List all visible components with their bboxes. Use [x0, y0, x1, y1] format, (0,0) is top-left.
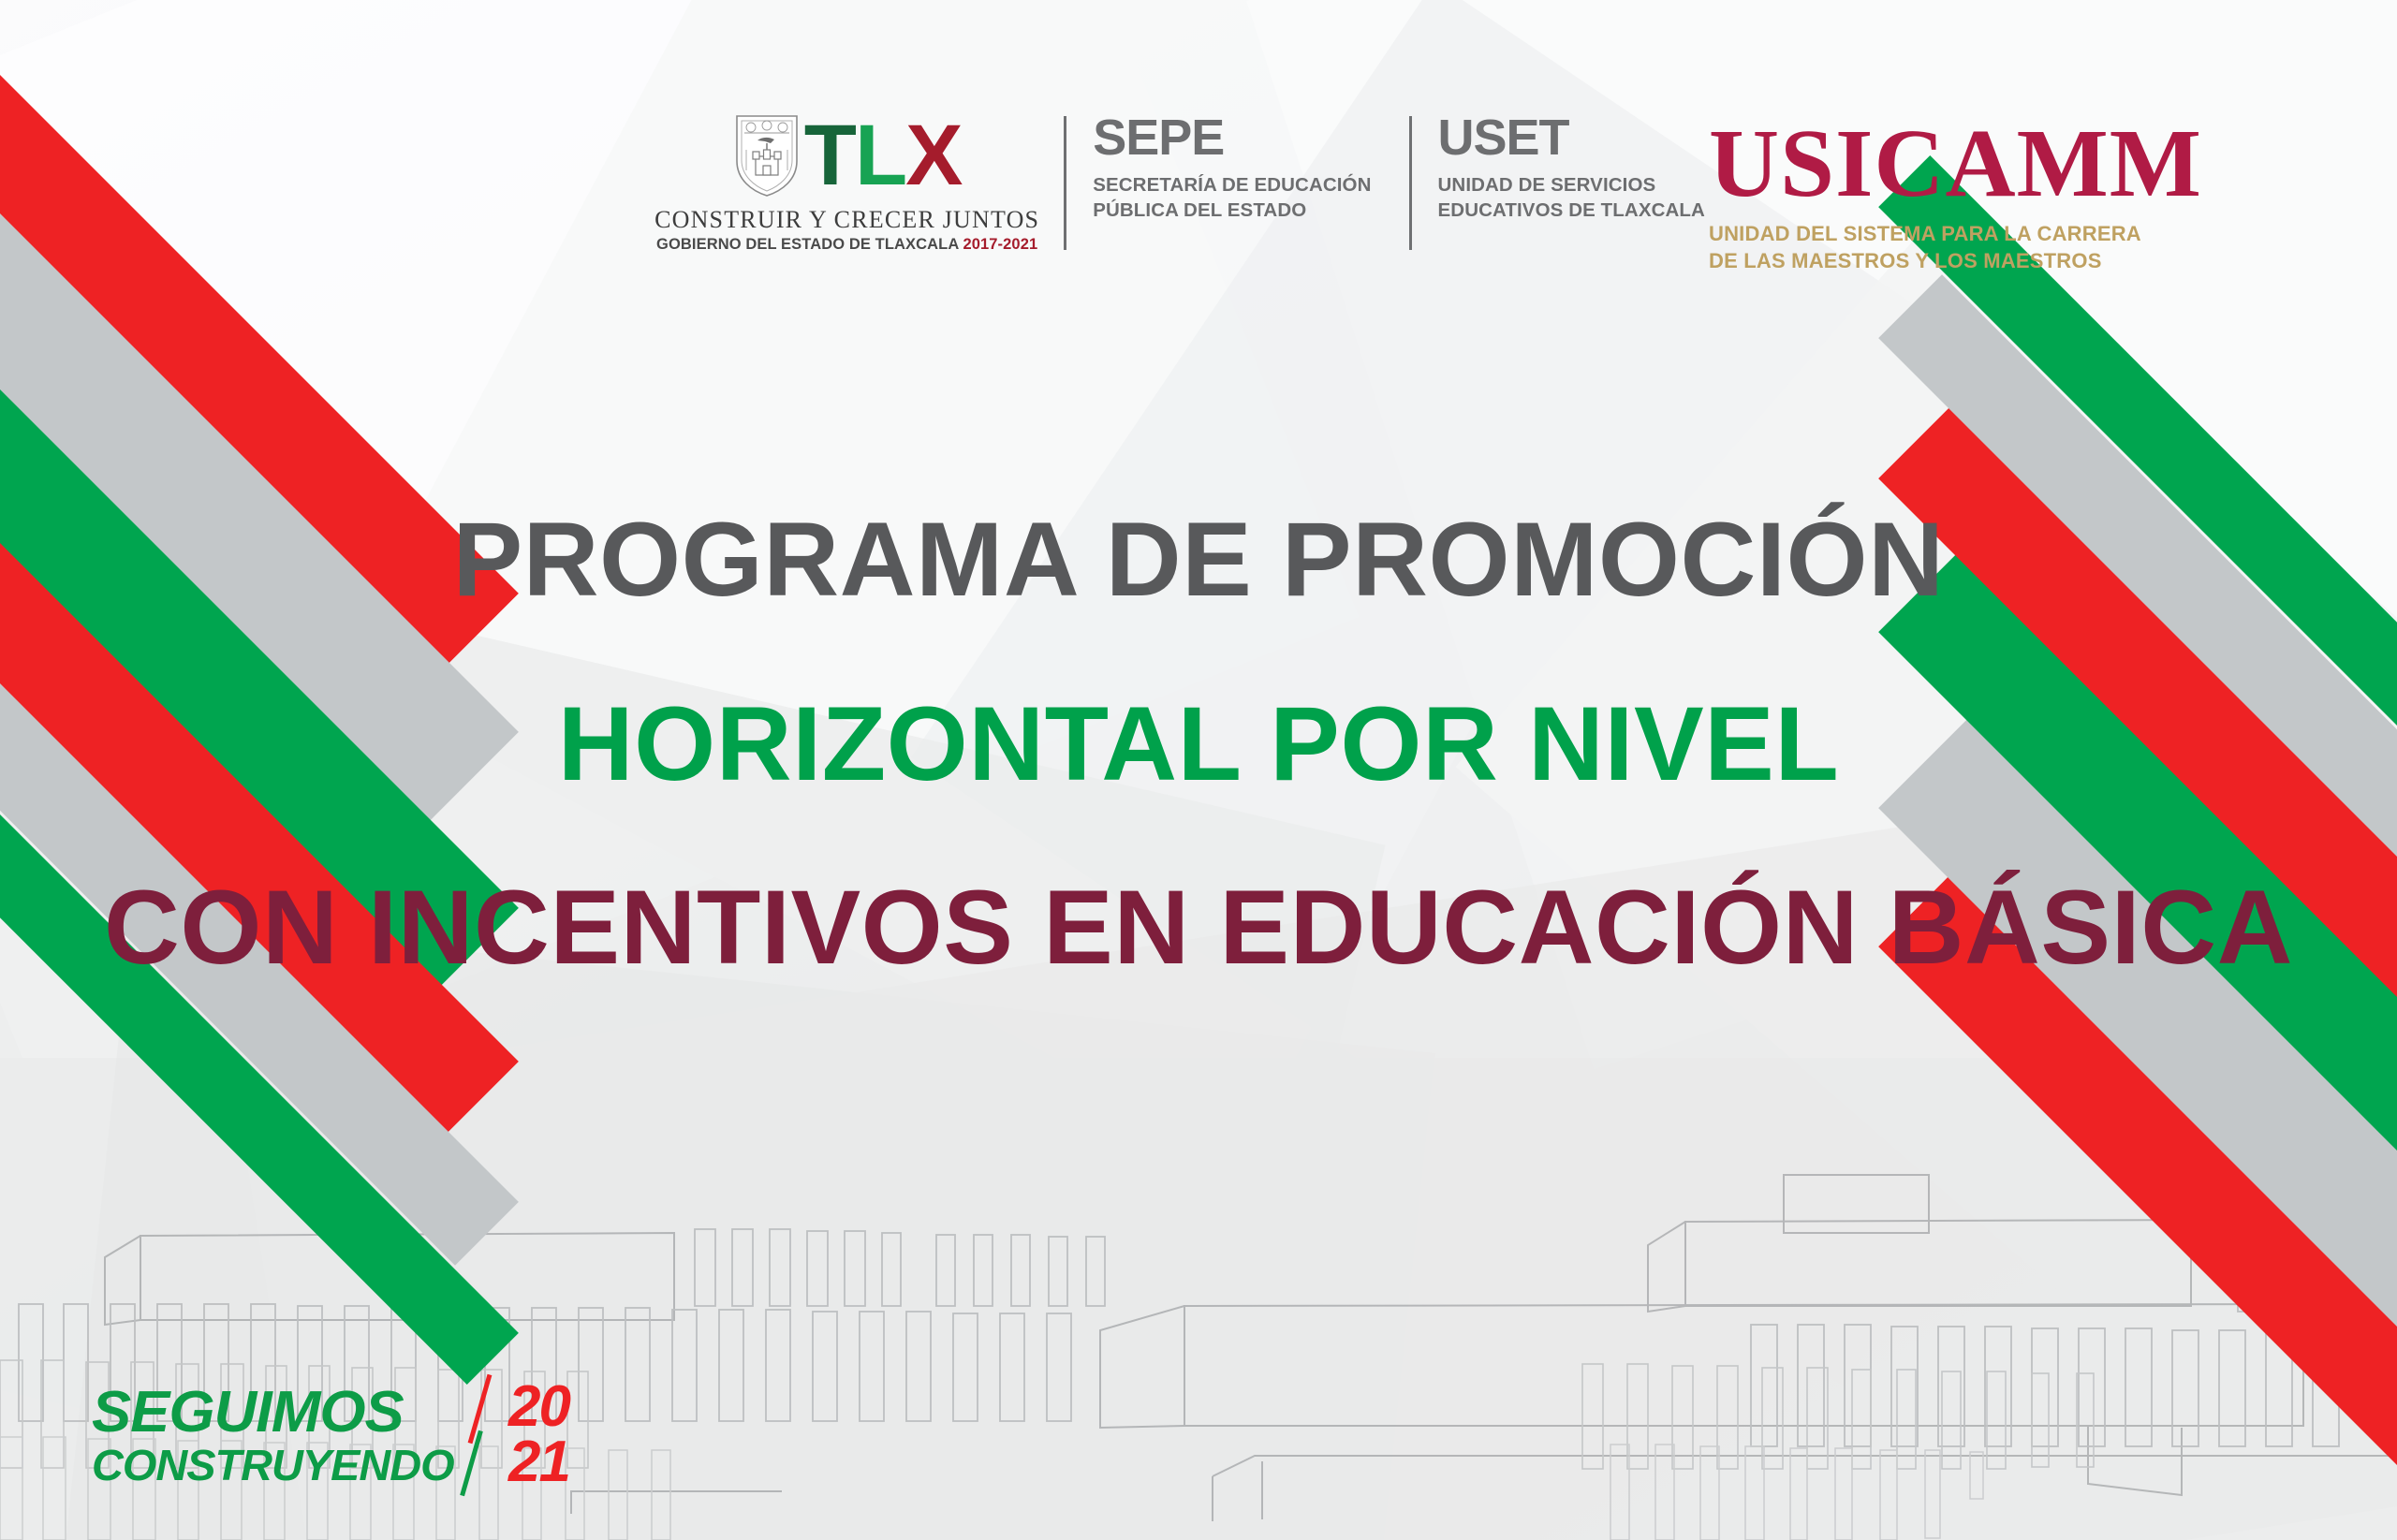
campaign-badge: SEGUIMOS CONSTRUYENDO 20 21: [92, 1375, 569, 1495]
page-title-line-1: PROGRAMA DE PROMOCIÓN: [0, 496, 2397, 624]
tlx-wordmark: TLX: [804, 116, 962, 196]
tlx-sepe-uset-lockup: TLX CONSTRUIR Y CRECER JUNTOS GOBIERNO D…: [654, 110, 1743, 254]
sepe-subtitle: SECRETARÍA DE EDUCACIÓN PÚBLICA DEL ESTA…: [1093, 172, 1371, 223]
usicamm-subtitle-line1: UNIDAD DEL SISTEMA PARA LA CARRERA: [1709, 220, 2364, 247]
campaign-year-bottom: 21: [508, 1435, 569, 1490]
sepe-logo: SEPE SECRETARÍA DE EDUCACIÓN PÚBLICA DEL…: [1066, 110, 1408, 254]
usicamm-subtitle: UNIDAD DEL SISTEMA PARA LA CARRERA DE LA…: [1709, 220, 2364, 274]
tlx-letter-l: L: [855, 116, 905, 196]
sepe-acronym: SEPE: [1093, 112, 1371, 163]
tlx-tagline-gov: GOBIERNO DEL ESTADO DE TLAXCALA: [656, 236, 959, 253]
campaign-line-1: SEGUIMOS: [92, 1385, 404, 1441]
uset-logo: USET UNIDAD DE SERVICIOS EDUCATIVOS DE T…: [1412, 110, 1743, 254]
flag-stripes-corner-icon: [1938, 1100, 2397, 1540]
uset-subtitle-line2: EDUCATIVOS DE TLAXCALA: [1438, 198, 1705, 223]
tlx-tagline-primary: CONSTRUIR Y CRECER JUNTOS: [654, 206, 1039, 234]
tlx-tagline-secondary: GOBIERNO DEL ESTADO DE TLAXCALA 2017-202…: [656, 236, 1037, 254]
tlx-logo: TLX CONSTRUIR Y CRECER JUNTOS GOBIERNO D…: [654, 110, 1064, 254]
sepe-subtitle-line2: PÚBLICA DEL ESTADO: [1093, 198, 1371, 223]
page-title-line-2: HORIZONTAL POR NIVEL: [0, 681, 2397, 809]
uset-subtitle: UNIDAD DE SERVICIOS EDUCATIVOS DE TLAXCA…: [1438, 172, 1705, 223]
tlx-letter-t: T: [804, 116, 855, 196]
sepe-subtitle-line1: SECRETARÍA DE EDUCACIÓN: [1093, 172, 1371, 198]
slide-title-block: PROGRAMA DE PROMOCIÓN HORIZONTAL POR NIV…: [0, 496, 2397, 992]
tlx-logo-top: TLX: [733, 110, 962, 200]
campaign-line-2: CONSTRUYENDO: [92, 1445, 454, 1486]
campaign-years: 20 21: [508, 1380, 569, 1490]
usicamm-subtitle-line2: DE LAS MAESTROS Y LOS MAESTROS: [1709, 247, 2364, 274]
page-title-line-3: CON INCENTIVOS EN EDUCACIÓN BÁSICA: [0, 864, 2397, 992]
uset-acronym: USET: [1438, 112, 1705, 163]
usicamm-acronym: USICAMM: [1709, 118, 2364, 211]
uset-subtitle-line1: UNIDAD DE SERVICIOS: [1438, 172, 1705, 198]
tlx-letter-x: X: [905, 116, 961, 196]
usicamm-logo: USICAMM UNIDAD DEL SISTEMA PARA LA CARRE…: [1709, 118, 2364, 274]
tlx-tagline-years: 2017-2021: [963, 236, 1037, 253]
campaign-year-top: 20: [508, 1380, 569, 1435]
campaign-words: SEGUIMOS CONSTRUYENDO: [92, 1385, 447, 1486]
tlaxcala-coat-of-arms-icon: [733, 112, 801, 198]
presentation-slide: TLX CONSTRUIR Y CRECER JUNTOS GOBIERNO D…: [0, 0, 2397, 1540]
campaign-slash-icon: [462, 1375, 503, 1495]
